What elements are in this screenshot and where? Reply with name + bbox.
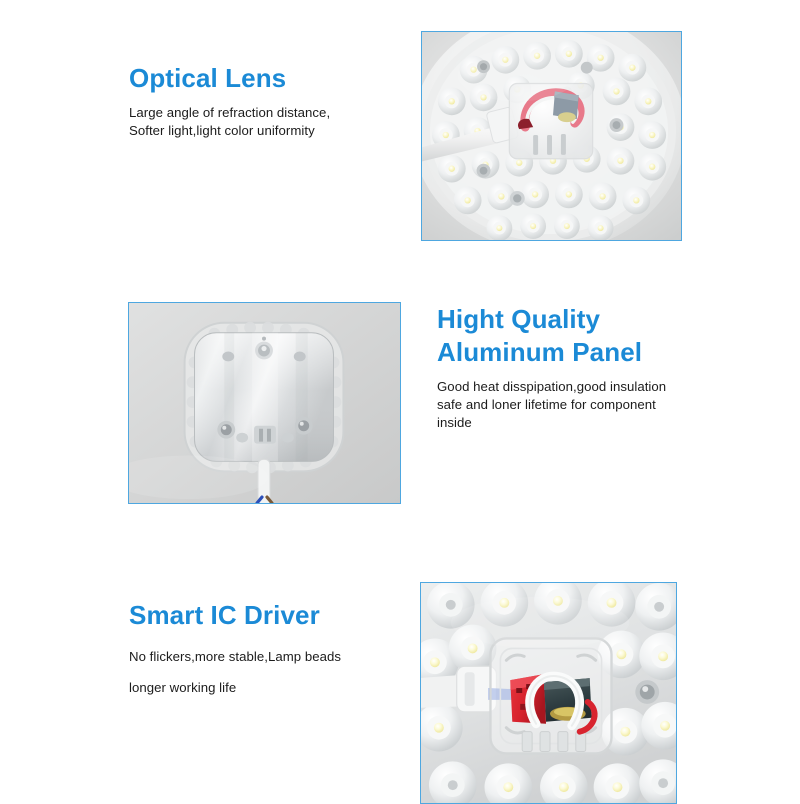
screw-head (635, 680, 659, 704)
smart-ic-driver-body-line-2: longer working life (129, 672, 449, 703)
smart-ic-driver-heading: Smart IC Driver (129, 599, 449, 632)
optical-lens-heading: Optical Lens (129, 62, 429, 95)
aluminum-panel-body-line-2: safe and loner lifetime for component (437, 396, 737, 414)
aluminum-panel-body: Good heat disspipation,good insulation s… (437, 378, 737, 433)
optical-lens-body-line-2: Softer light,light color uniformity (129, 122, 429, 140)
ic-driver-illustration (421, 583, 676, 803)
smart-ic-driver-body-line-1: No flickers,more stable,Lamp beads (129, 641, 449, 672)
section-aluminum-panel-text: Hight Quality Aluminum Panel Good heat d… (437, 303, 737, 433)
optical-lens-photo (421, 31, 682, 241)
smart-ic-driver-body: No flickers,more stable,Lamp beads longe… (129, 641, 449, 703)
aluminum-panel-photo (128, 302, 401, 504)
smart-ic-driver-photo (420, 582, 677, 804)
section-optical-lens-text: Optical Lens Large angle of refraction d… (129, 62, 429, 141)
aluminum-panel-body-line-3: inside (437, 414, 737, 432)
led-module-illustration (422, 32, 681, 240)
product-feature-infographic: Optical Lens Large angle of refraction d… (0, 0, 800, 800)
aluminum-plate (195, 333, 334, 462)
aluminum-panel-body-line-1: Good heat disspipation,good insulation (437, 378, 737, 396)
optical-lens-body: Large angle of refraction distance, Soft… (129, 104, 429, 141)
section-smart-ic-driver-text: Smart IC Driver No flickers,more stable,… (129, 599, 449, 703)
optical-lens-body-line-1: Large angle of refraction distance, (129, 104, 429, 122)
aluminum-panel-heading: Hight Quality Aluminum Panel (437, 303, 737, 369)
aluminum-panel-illustration (129, 303, 400, 503)
